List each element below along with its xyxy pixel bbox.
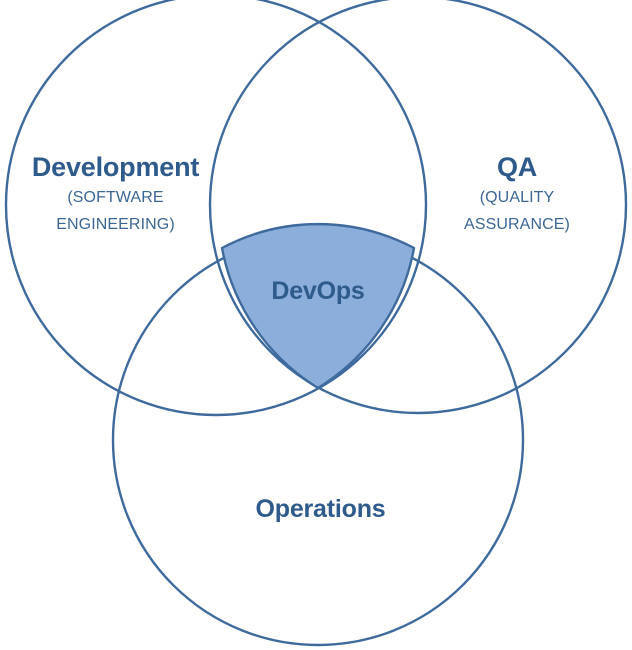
- label-qa-subtitle-line2: ASSURANCE): [417, 211, 617, 239]
- label-development-title: Development: [13, 152, 218, 184]
- label-devops-title: DevOps: [238, 277, 398, 307]
- label-development-subtitle: (SOFTWARE ENGINEERING): [13, 184, 218, 239]
- label-development-subtitle-line2: ENGINEERING): [13, 211, 218, 239]
- label-qa-title: QA: [417, 152, 617, 184]
- label-qa-subtitle: (QUALITY ASSURANCE): [417, 184, 617, 239]
- label-development-subtitle-line1: (SOFTWARE: [13, 184, 218, 212]
- label-devops: DevOps: [238, 277, 398, 307]
- label-qa: QA (QUALITY ASSURANCE): [417, 152, 617, 239]
- label-qa-subtitle-line1: (QUALITY: [417, 184, 617, 212]
- label-development: Development (SOFTWARE ENGINEERING): [13, 152, 218, 239]
- label-operations: Operations: [198, 495, 443, 525]
- venn-diagram-canvas: Development (SOFTWARE ENGINEERING) QA (Q…: [0, 0, 632, 650]
- label-operations-title: Operations: [198, 495, 443, 525]
- venn-diagram-svg: [0, 0, 632, 650]
